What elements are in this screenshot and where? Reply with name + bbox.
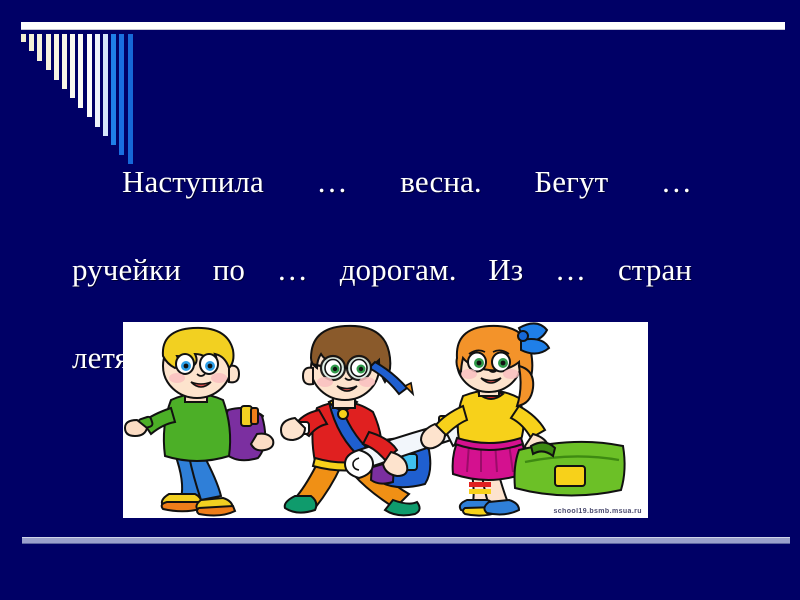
decor-bar-4 xyxy=(46,34,51,70)
decor-bar-13 xyxy=(119,34,124,155)
text-line-1: Наступила … весна. Бегут … xyxy=(72,160,692,248)
decor-bar-1 xyxy=(21,34,26,42)
image-watermark: school19.bsmb.msua.ru xyxy=(553,508,642,515)
decor-bar-7 xyxy=(70,34,75,98)
decor-bar-5 xyxy=(54,34,59,80)
decor-bar-3 xyxy=(37,34,42,61)
decor-bar-11 xyxy=(103,34,108,136)
descending-bar-comb-decoration xyxy=(21,34,141,164)
decor-bar-2 xyxy=(29,34,34,51)
decor-bar-6 xyxy=(62,34,67,89)
decor-bar-10 xyxy=(95,34,100,127)
schoolchildren-illustration xyxy=(123,322,648,518)
schoolchildren-picture: school19.bsmb.msua.ru xyxy=(123,322,648,518)
decor-bar-9 xyxy=(87,34,92,117)
bottom-divider-rule xyxy=(22,537,790,544)
decor-bar-8 xyxy=(78,34,83,108)
top-divider-rule xyxy=(21,22,785,30)
decor-bar-12 xyxy=(111,34,116,145)
slide-canvas: Наступила … весна. Бегут … ручейки по … … xyxy=(0,0,800,600)
decor-bar-14 xyxy=(128,34,133,164)
